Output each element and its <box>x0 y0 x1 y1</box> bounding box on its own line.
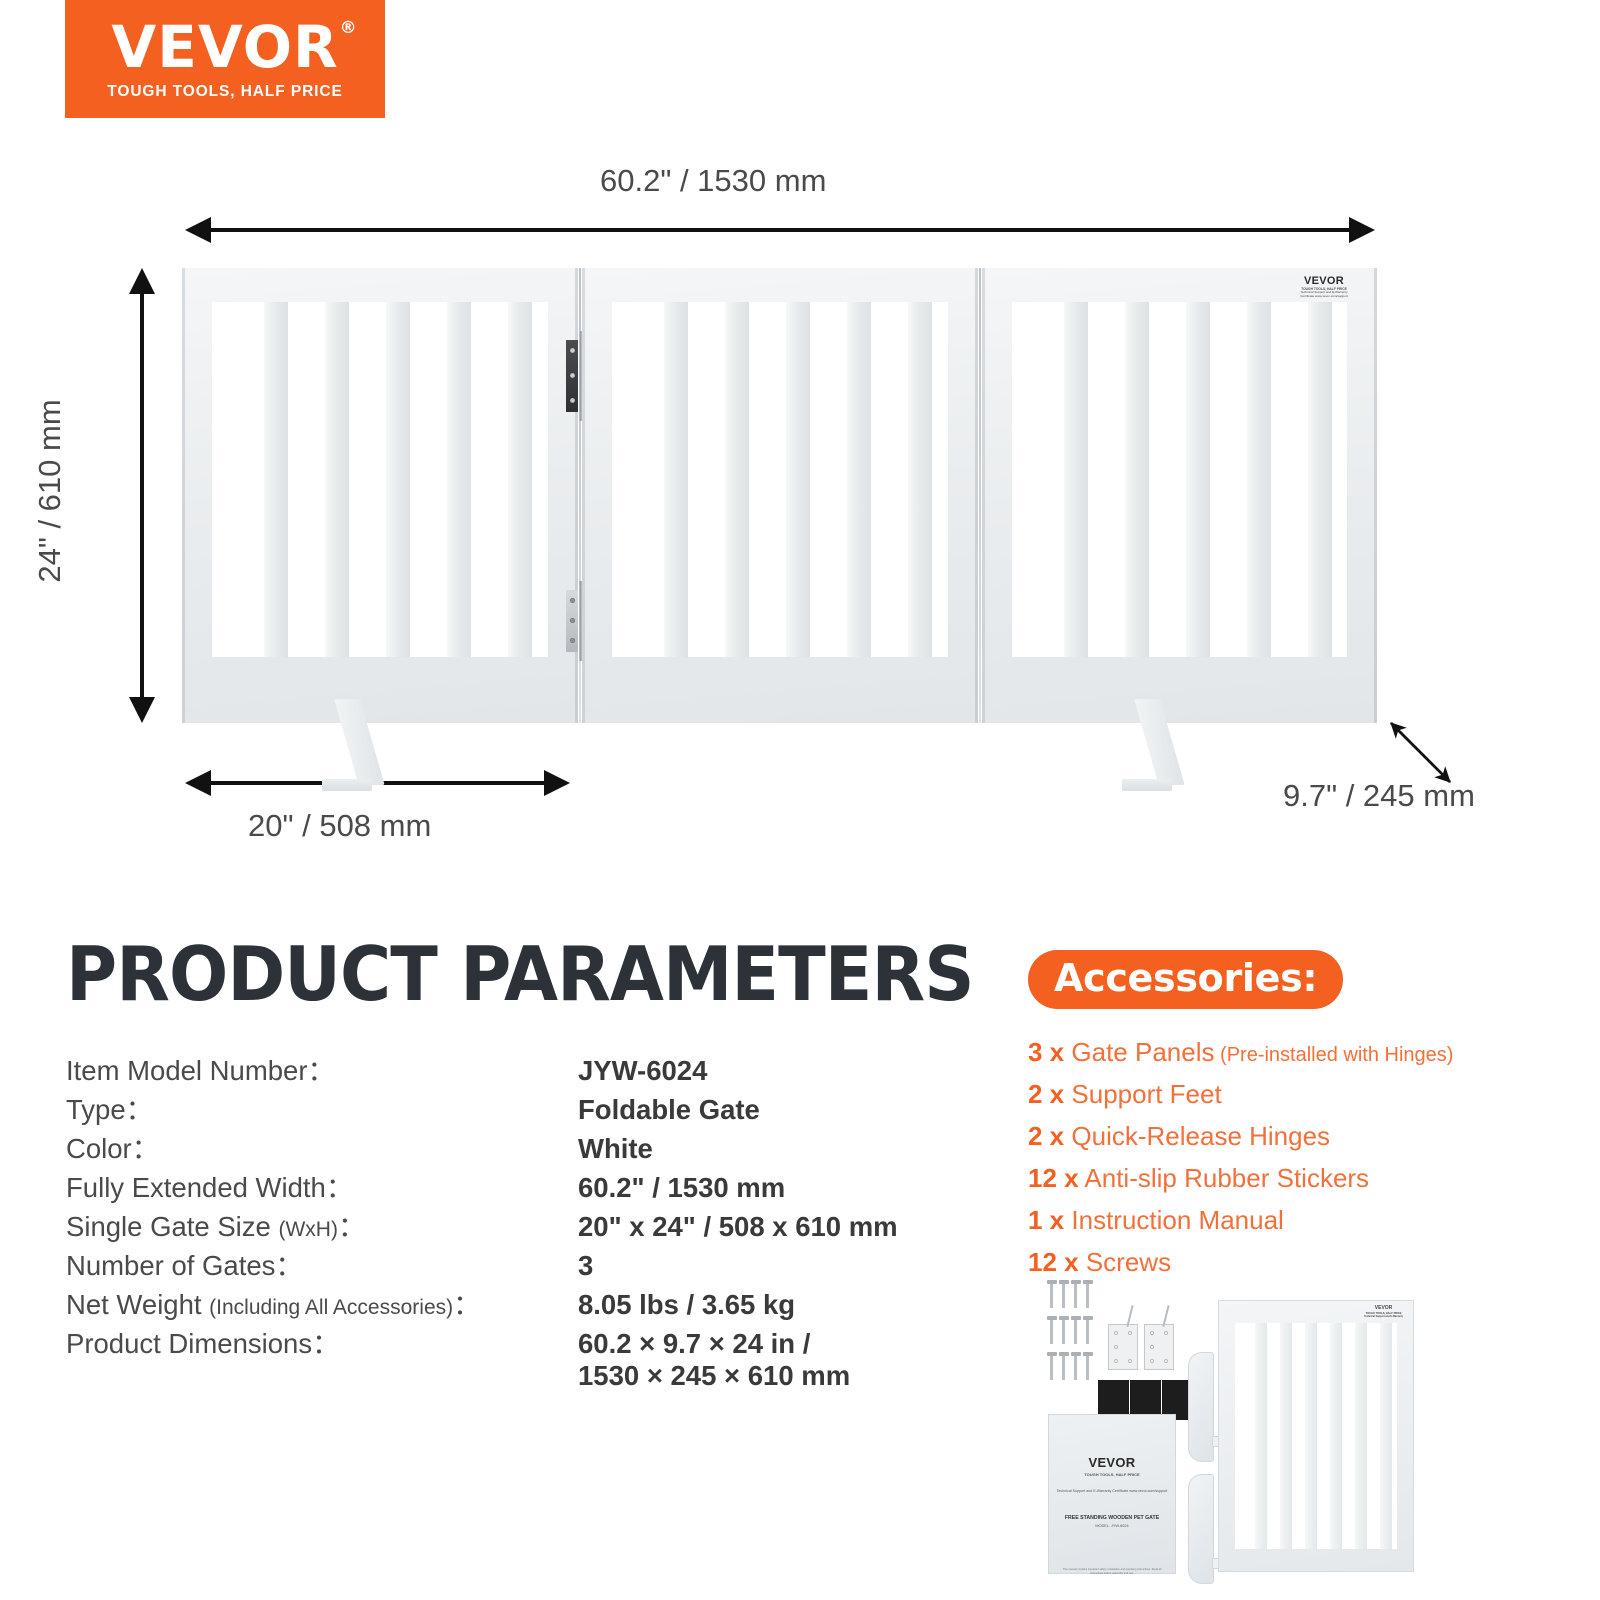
hinge-screw <box>570 598 575 603</box>
hinge-screw-hole <box>1114 1359 1118 1363</box>
screw-icon <box>1086 1316 1089 1344</box>
gate-slat <box>1064 302 1088 657</box>
hinge-screw <box>570 373 575 378</box>
height-dimension-arrow <box>140 268 144 723</box>
param-value: 3 <box>578 1250 593 1282</box>
pet-gate-illustration: VEVOR TOUGH TOOLS, HALF PRICE Technical … <box>182 268 1377 723</box>
table-row-continuation: 1530 × 245 × 610 mm <box>66 1360 996 1404</box>
panel-edge <box>182 268 185 723</box>
manual-brand: VEVOR <box>1088 1455 1135 1470</box>
screw-icon <box>1062 1352 1065 1380</box>
gate-slat <box>1255 1323 1267 1549</box>
hinge-screw-hole <box>1164 1331 1168 1335</box>
screw-icon <box>1074 1316 1077 1344</box>
manual-product-name: FREE STANDING WOODEN PET GATE <box>1065 1515 1159 1521</box>
manual-support: Technical Support and E-Warranty Certifi… <box>1057 1489 1168 1493</box>
gate-slat <box>264 302 288 657</box>
screw-icon <box>1074 1352 1077 1380</box>
brand-name: VEVOR <box>111 13 338 81</box>
accessories-list: 3 x Gate Panels (Pre-installed with Hing… <box>1028 1033 1588 1285</box>
sticker-support-line-2: Certificate www.vevor.com/support <box>1300 295 1347 298</box>
accessory-name: Instruction Manual <box>1071 1205 1283 1235</box>
gate-slat <box>725 302 749 657</box>
gate-slat <box>386 302 410 657</box>
hinge-leaf <box>566 590 578 652</box>
gate-sticker-line-2: Technical Support and E-Warranty <box>1364 1315 1403 1318</box>
accessory-qty: 12 x <box>1028 1163 1079 1193</box>
gate-panel-opening <box>1235 1323 1397 1549</box>
list-item: 12 x Anti-slip Rubber Stickers <box>1028 1159 1588 1201</box>
gate-slat <box>508 302 532 657</box>
param-value: Foldable Gate <box>578 1094 760 1126</box>
accessory-note: (Pre-installed with Hinges) <box>1214 1044 1453 1066</box>
list-item: 2 x Support Feet <box>1028 1075 1588 1117</box>
hinge-screw-hole <box>1150 1331 1154 1335</box>
gate-slat <box>1308 302 1332 657</box>
gate-panel-1 <box>182 268 578 723</box>
arrowhead-right <box>1349 217 1375 243</box>
hinge-screw <box>570 618 575 623</box>
gate-slat <box>1305 1323 1317 1549</box>
vevor-logo: VEVOR® TOUGH TOOLS, HALF PRICE <box>65 0 385 118</box>
panel-edge <box>975 268 978 723</box>
arrowhead-right <box>544 770 570 796</box>
panel-opening <box>612 302 948 657</box>
gate-slat <box>1380 1323 1392 1549</box>
hinge-screw-hole <box>1150 1345 1154 1349</box>
height-dimension-label: 24" / 610 mm <box>32 331 68 651</box>
param-label: Color： <box>66 1126 578 1166</box>
param-label: Single Gate Size (WxH)： <box>66 1204 578 1244</box>
hinge-screw <box>570 398 575 403</box>
brand-tagline: TOUGH TOOLS, HALF PRICE <box>107 83 342 101</box>
list-item: 2 x Quick-Release Hinges <box>1028 1117 1588 1159</box>
screw-icon <box>1062 1280 1065 1308</box>
instruction-manual: VEVOR TOUGH TOOLS, HALF PRICE Technical … <box>1048 1414 1176 1574</box>
screw-icon <box>1062 1316 1065 1344</box>
panel-edge <box>982 268 985 723</box>
hinge-icon <box>1108 1324 1138 1370</box>
gate-slat <box>1186 302 1210 657</box>
param-value: 60.2 × 9.7 × 24 in / <box>578 1328 810 1360</box>
gate-slat <box>664 302 688 657</box>
support-foot-base <box>322 779 372 791</box>
panel-edge <box>582 268 585 723</box>
single-gate-width-label: 20" / 508 mm <box>248 808 431 844</box>
support-foot-base <box>1122 779 1172 791</box>
product-diagram: 60.2" / 1530 mm 24" / 610 mm 20" / 508 m… <box>0 118 1600 878</box>
hinge-screw-hole <box>1128 1331 1132 1335</box>
table-row: Single Gate Size (WxH)： 20" x 24" / 508 … <box>66 1204 996 1243</box>
arrowhead-bottom <box>129 697 155 723</box>
gate-slat <box>1280 1323 1292 1549</box>
gate-slat <box>447 302 471 657</box>
table-row: Number of Gates： 3 <box>66 1243 996 1282</box>
table-row: Item Model Number： JYW-6024 <box>66 1048 996 1087</box>
hinge-screw <box>570 348 575 353</box>
param-label: Number of Gates： <box>66 1243 578 1283</box>
param-value: JYW-6024 <box>578 1055 707 1087</box>
table-row: Type： Foldable Gate <box>66 1087 996 1126</box>
panel-opening <box>1012 302 1347 657</box>
accessories-heading: Accessories: <box>1028 950 1343 1009</box>
param-label: Type： <box>66 1087 578 1127</box>
accessory-qty: 1 x <box>1028 1205 1064 1235</box>
gate-slat <box>786 302 810 657</box>
gate-panel-3: VEVOR TOUGH TOOLS, HALF PRICE Technical … <box>982 268 1377 723</box>
hinge-pin-arm <box>1162 1305 1169 1327</box>
param-value: 60.2" / 1530 mm <box>578 1172 785 1204</box>
hinge-screw-hole <box>1114 1331 1118 1335</box>
table-row: Color： White <box>66 1126 996 1165</box>
gate-panel-part: VEVOR TOUGH TOOLS, HALF PRICE Technical … <box>1218 1300 1414 1572</box>
param-label: Product Dimensions： <box>66 1321 578 1361</box>
depth-dimension-label: 9.7" / 245 mm <box>1283 778 1475 814</box>
param-label: Item Model Number： <box>66 1048 578 1088</box>
hinge-screw-hole <box>1150 1359 1154 1363</box>
param-value: 8.05 lbs / 3.65 kg <box>578 1289 795 1321</box>
support-foot-part <box>1188 1352 1214 1462</box>
gate-slat <box>908 302 932 657</box>
list-item: 3 x Gate Panels (Pre-installed with Hing… <box>1028 1033 1588 1075</box>
panel-opening <box>212 302 548 657</box>
param-label: Net Weight (Including All Accessories)： <box>66 1282 578 1322</box>
registered-trademark-icon: ® <box>340 20 358 37</box>
param-label: Fully Extended Width： <box>66 1165 578 1205</box>
screw-icon <box>1050 1280 1053 1308</box>
manual-tagline: TOUGH TOOLS, HALF PRICE <box>1084 1472 1139 1477</box>
gate-slat <box>1247 302 1271 657</box>
product-brand-sticker: VEVOR TOUGH TOOLS, HALF PRICE Technical … <box>1285 274 1363 300</box>
width-dimension-arrow <box>185 228 1375 232</box>
brand-wordmark: VEVOR® <box>111 18 338 76</box>
gate-slat <box>325 302 349 657</box>
screw-icon <box>1074 1280 1077 1308</box>
gate-slat <box>1330 1323 1342 1549</box>
manual-fineprint: This manual contains important safety, i… <box>1058 1568 1166 1576</box>
gate-slat <box>847 302 871 657</box>
gate-slat <box>1125 302 1149 657</box>
hinge-pin-arm <box>1126 1305 1133 1327</box>
hinge-screw-hole <box>1128 1359 1132 1363</box>
hinge-leaf <box>566 340 578 412</box>
gate-slat <box>1355 1323 1367 1549</box>
accessory-qty: 2 x <box>1028 1121 1064 1151</box>
table-row: Fully Extended Width： 60.2" / 1530 mm <box>66 1165 996 1204</box>
accessories-photo: VEVOR TOUGH TOOLS, HALF PRICE Technical … <box>1040 1262 1585 1582</box>
accessory-name: Anti-slip Rubber Stickers <box>1084 1163 1369 1193</box>
screw-icon <box>1086 1352 1089 1380</box>
panel-edge <box>1374 268 1377 723</box>
width-dimension-label: 60.2" / 1530 mm <box>600 163 826 199</box>
parameters-table: Item Model Number： JYW-6024 Type： Foldab… <box>66 1048 996 1404</box>
list-item: 1 x Instruction Manual <box>1028 1201 1588 1243</box>
accessory-qty: 3 x <box>1028 1037 1064 1067</box>
gate-panel-sticker: VEVOR TOUGH TOOLS, HALF PRICE Technical … <box>1364 1305 1403 1318</box>
accessory-name: Quick-Release Hinges <box>1071 1121 1330 1151</box>
accessory-name: Gate Panels <box>1071 1037 1214 1067</box>
param-value: 20" x 24" / 508 x 610 mm <box>578 1211 898 1243</box>
accessory-name: Support Feet <box>1071 1079 1221 1109</box>
hinge-icon <box>1144 1324 1174 1370</box>
support-foot <box>1134 699 1185 785</box>
screw-icon <box>1050 1316 1053 1344</box>
table-row: Net Weight (Including All Accessories)： … <box>66 1282 996 1321</box>
param-value-continued: 1530 × 245 × 610 mm <box>578 1360 850 1392</box>
page-title: PRODUCT PARAMETERS <box>66 930 974 1018</box>
accessory-qty: 2 x <box>1028 1079 1064 1109</box>
hinge-screw-hole <box>1164 1359 1168 1363</box>
manual-model: MODEL: JYW-6024 <box>1095 1524 1128 1528</box>
dimension-line <box>199 228 1361 232</box>
screw-icon <box>1086 1280 1089 1308</box>
hinge-screw <box>570 638 575 643</box>
dimension-line <box>140 282 144 709</box>
table-row: Product Dimensions： 60.2 × 9.7 × 24 in / <box>66 1321 996 1360</box>
gate-panel-2 <box>582 268 978 723</box>
support-foot-part <box>1188 1474 1214 1584</box>
hinge-screw-hole <box>1114 1345 1118 1349</box>
param-value: White <box>578 1133 653 1165</box>
panel-seam <box>979 268 981 723</box>
support-foot <box>334 699 385 785</box>
screw-icon <box>1050 1352 1053 1380</box>
